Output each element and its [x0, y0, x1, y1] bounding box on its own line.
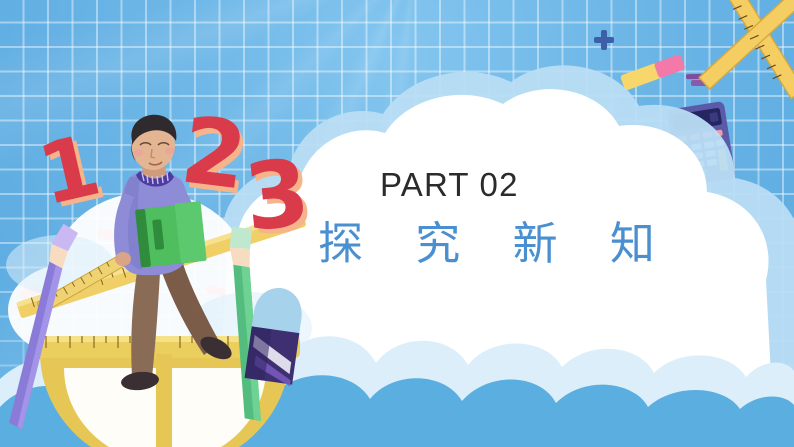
- section-number-label: PART 02: [380, 168, 720, 201]
- page-title: 探 究 新 知: [318, 219, 720, 269]
- slide-canvas: π: [0, 0, 794, 447]
- title-block: PART 02 探 究 新 知: [300, 168, 720, 269]
- plus-sign-icon: [594, 30, 614, 50]
